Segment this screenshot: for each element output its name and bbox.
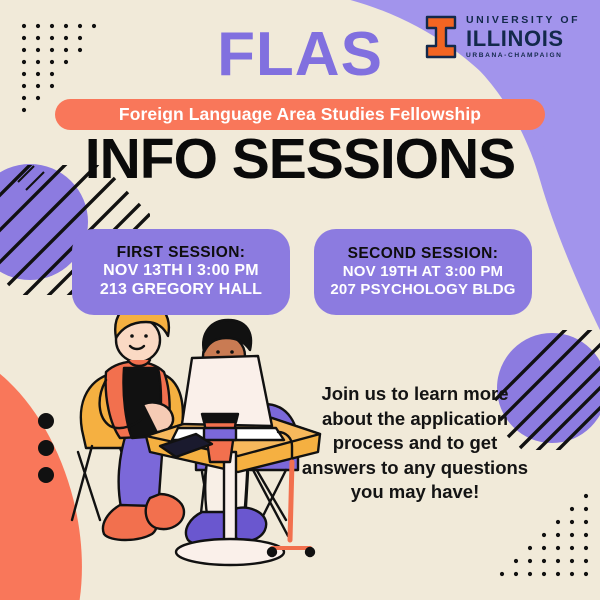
university-logo[interactable]: UNIVERSITY OF ILLINOIS URBANA-CHAMPAIGN	[424, 12, 590, 62]
person-right-eye	[230, 350, 234, 354]
coffee-cup-sleeve	[204, 428, 236, 440]
session-1-heading: FIRST SESSION:	[117, 244, 246, 262]
person-left-collar	[128, 360, 150, 366]
person-right-eye	[216, 350, 220, 354]
coffee-cup-lid	[202, 414, 238, 422]
person-left-eye	[130, 334, 134, 338]
logo-line-campus: URBANA-CHAMPAIGN	[466, 51, 580, 60]
session-card-second[interactable]: SECOND SESSION: NOV 19TH AT 3:00 PM 207 …	[314, 229, 532, 315]
block-i-icon	[424, 15, 458, 59]
session-card-first[interactable]: FIRST SESSION: NOV 13TH I 3:00 PM 213 GR…	[72, 229, 290, 315]
person-left	[100, 302, 184, 540]
session-2-heading: SECOND SESSION:	[348, 245, 499, 263]
poster-canvas: UNIVERSITY OF ILLINOIS URBANA-CHAMPAIGN …	[0, 0, 600, 600]
person-left-shoe-2	[146, 494, 184, 529]
table-stem	[224, 452, 236, 546]
session-1-datetime: NOV 13TH I 3:00 PM	[103, 262, 259, 281]
session-2-datetime: NOV 19TH AT 3:00 PM	[343, 263, 504, 281]
logo-line-illinois: ILLINOIS	[466, 27, 580, 50]
session-1-location: 213 GREGORY HALL	[100, 281, 262, 300]
session-2-location: 207 PSYCHOLOGY BLDG	[330, 281, 515, 299]
person-left-eye	[144, 334, 148, 338]
